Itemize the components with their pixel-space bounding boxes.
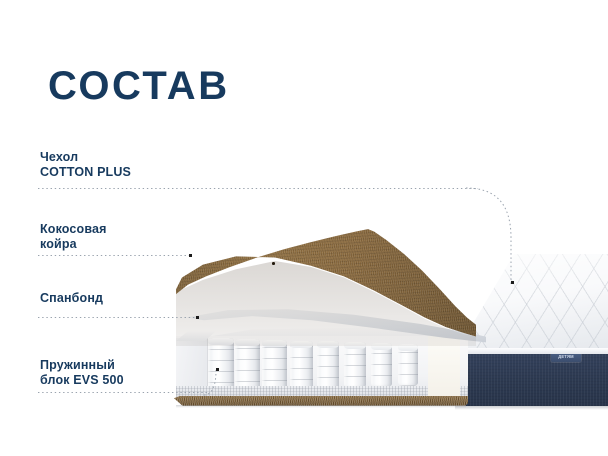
leader-line-spring-block [38, 392, 210, 393]
leader-line-spanbond [38, 317, 196, 318]
leader-curve-cover [466, 182, 526, 290]
callout-cover: Чехол COTTON PLUS [40, 150, 131, 179]
callout-cover-line1: Чехол [40, 150, 131, 165]
quilted-cover-edge [449, 348, 608, 354]
callout-spring-block: Пружинный блок EVS 500 [40, 358, 124, 387]
pocket-spring [262, 340, 286, 392]
callout-coir-line1: Кокосовая [40, 222, 107, 237]
side-panel-shadow [455, 406, 608, 410]
leader-line-cover [38, 188, 478, 189]
pocket-spring [398, 344, 418, 386]
mattress-ground-shadow [176, 405, 466, 408]
callout-spanbond-line1: Спанбонд [40, 291, 103, 306]
callout-cover-line2: COTTON PLUS [40, 165, 131, 180]
leader-endpoint-spring-block [216, 368, 219, 371]
coir-speck [272, 262, 275, 265]
pocket-spring [371, 343, 392, 387]
leader-endpoint-cover [511, 281, 514, 284]
pocket-spring [344, 342, 366, 388]
mattress-side-panel [455, 352, 608, 406]
leader-curve-spring-block [204, 366, 226, 396]
callout-spring-block-line2: блок EVS 500 [40, 373, 124, 388]
pocket-spring [317, 341, 340, 389]
callout-coir-line2: койра [40, 237, 107, 252]
leader-endpoint-spanbond [196, 316, 199, 319]
callout-spring-block-line1: Пружинный [40, 358, 124, 373]
leader-endpoint-coir [189, 254, 192, 257]
pocket-spring [290, 341, 313, 391]
leader-line-coir [38, 255, 190, 256]
callout-spanbond: Спанбонд [40, 291, 103, 306]
composition-infographic: СОСТАВ ДЕТЯМ Чехол [0, 0, 608, 456]
pocket-spring [235, 339, 260, 393]
callout-coir: Кокосовая койра [40, 222, 107, 251]
